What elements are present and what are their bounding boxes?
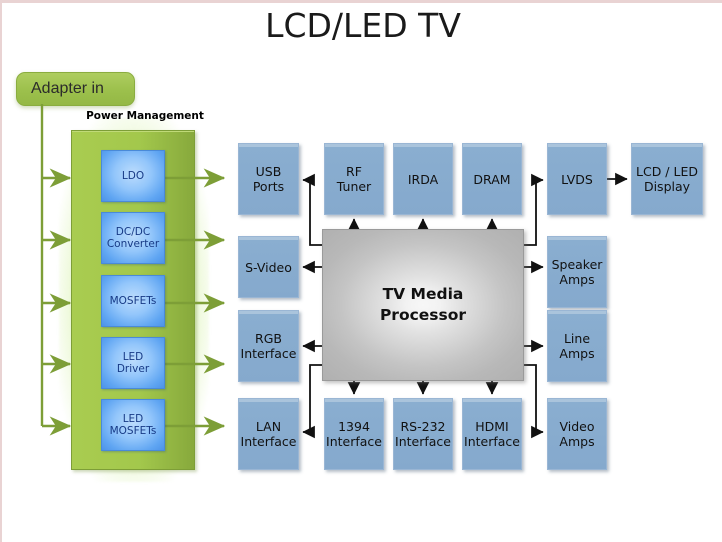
block-label: USBPorts: [253, 164, 284, 194]
block-dram[interactable]: DRAM: [462, 143, 522, 215]
pm-block-label: MOSFETs: [110, 295, 157, 307]
block-lcd-led-display[interactable]: LCD / LEDDisplay: [631, 143, 703, 215]
block-1394-interface[interactable]: 1394Interface: [324, 398, 384, 470]
diagram-canvas: LCD/LED TV Power Management Adapter in: [0, 0, 722, 542]
block-label: LCD / LEDDisplay: [636, 164, 698, 194]
block-line-amps[interactable]: LineAmps: [547, 310, 607, 382]
block-usb-ports[interactable]: USBPorts: [238, 143, 299, 215]
pm-block-led-driver[interactable]: LEDDriver: [101, 337, 165, 389]
processor-label: TV MediaProcessor: [380, 284, 466, 326]
block-speaker-amps[interactable]: SpeakerAmps: [547, 236, 607, 308]
block-label: LVDS: [561, 172, 593, 187]
block-video-amps[interactable]: VideoAmps: [547, 398, 607, 470]
block-label: IRDA: [408, 172, 438, 187]
block-rf-tuner[interactable]: RFTuner: [324, 143, 384, 215]
pm-block-label: LDO: [122, 170, 144, 182]
block-s-video[interactable]: S-Video: [238, 236, 299, 298]
block-hdmi-interface[interactable]: HDMIInterface: [462, 398, 522, 470]
pm-block-mosfets[interactable]: MOSFETs: [101, 275, 165, 327]
pm-block-label: DC/DCConverter: [107, 226, 159, 250]
pm-block-led-mosfets[interactable]: LEDMOSFETs: [101, 399, 165, 451]
block-label: HDMIInterface: [464, 419, 520, 449]
pm-block-label: LEDMOSFETs: [110, 413, 157, 437]
block-label: LineAmps: [559, 331, 594, 361]
pm-block-label: LEDDriver: [117, 351, 149, 375]
tv-media-processor[interactable]: TV MediaProcessor: [322, 229, 524, 381]
block-label: RS-232Interface: [395, 419, 451, 449]
block-lan-interface[interactable]: LANInterface: [238, 398, 299, 470]
adapter-in-box[interactable]: Adapter in: [16, 72, 135, 106]
block-label: DRAM: [473, 172, 510, 187]
power-management-label: Power Management: [80, 110, 210, 122]
block-irda[interactable]: IRDA: [393, 143, 453, 215]
block-rgb-interface[interactable]: RGBInterface: [238, 310, 299, 382]
block-lvds[interactable]: LVDS: [547, 143, 607, 215]
block-label: 1394Interface: [326, 419, 382, 449]
block-label: LANInterface: [241, 419, 297, 449]
pm-block-ldo[interactable]: LDO: [101, 150, 165, 202]
block-label: RFTuner: [337, 164, 371, 194]
pm-block-dc-dc-converter[interactable]: DC/DCConverter: [101, 212, 165, 264]
block-rs232-interface[interactable]: RS-232Interface: [393, 398, 453, 470]
block-label: SpeakerAmps: [552, 257, 603, 287]
page-title: LCD/LED TV: [2, 6, 722, 45]
adapter-in-label: Adapter in: [31, 80, 104, 98]
block-label: VideoAmps: [559, 419, 594, 449]
block-label: RGBInterface: [241, 331, 297, 361]
block-label: S-Video: [245, 260, 292, 275]
